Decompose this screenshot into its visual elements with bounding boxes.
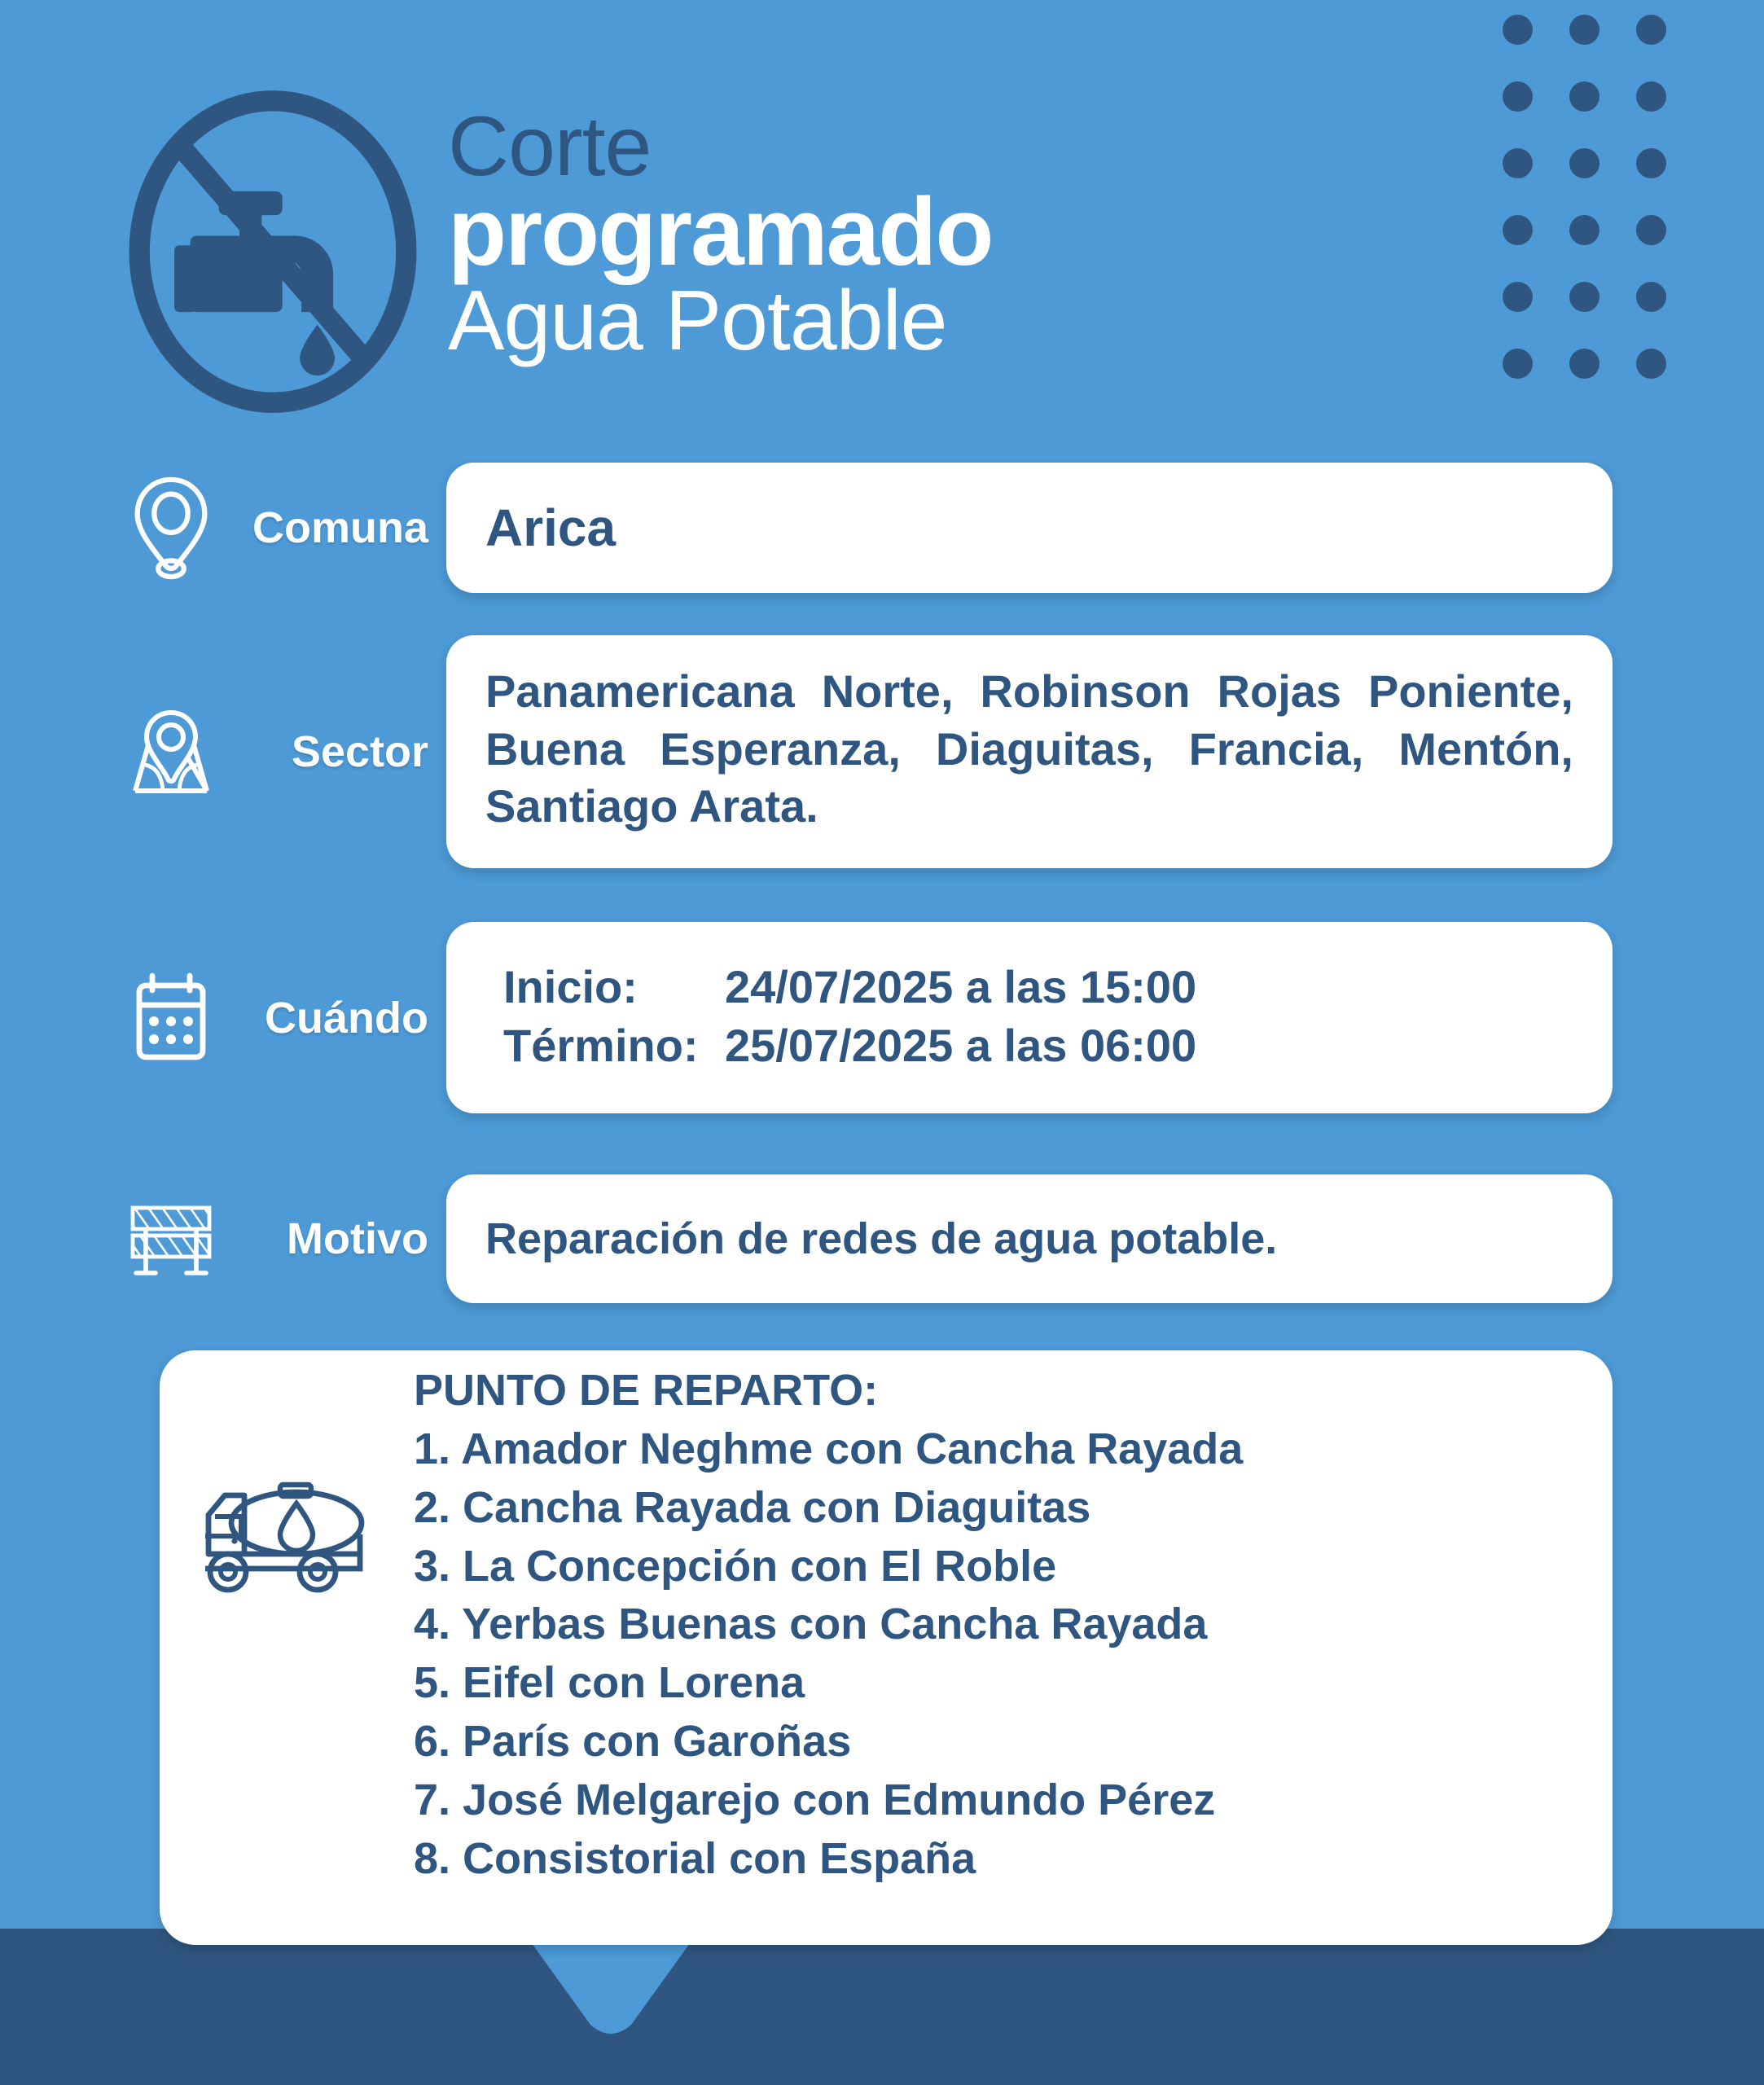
reparto-title: PUNTO DE REPARTO: — [414, 1368, 1580, 1412]
header-line-agua-potable: Agua Potable — [448, 279, 992, 363]
row-sector: Sector Panamericana Norte, Robinson Roja… — [114, 635, 1613, 868]
punto-de-reparto-panel: PUNTO DE REPARTO: 1. Amador Neghme con C… — [160, 1350, 1613, 1945]
reparto-items: 1. Amador Neghme con Cancha Rayada 2. Ca… — [414, 1420, 1580, 1889]
header-line-programado: programado — [448, 187, 992, 279]
dot — [1569, 215, 1599, 245]
header-title-block: Corte programado Agua Potable — [448, 90, 992, 363]
dot — [1503, 349, 1533, 379]
dot — [1636, 81, 1666, 112]
dot — [1636, 215, 1666, 245]
map-location-icon — [114, 695, 228, 809]
map-pin-icon — [114, 471, 228, 585]
list-item: 6. París con Garoñas — [414, 1713, 1580, 1771]
sector-value-card: Panamericana Norte, Robinson Rojas Ponie… — [446, 635, 1613, 868]
row-motivo: Motivo Reparación de redes de agua potab… — [114, 1174, 1613, 1303]
dot-grid-decoration — [1503, 15, 1703, 415]
road-barrier-icon — [114, 1182, 228, 1296]
when-value-termino: 25/07/2025 a las 06:00 — [725, 1016, 1196, 1075]
reparto-list: PUNTO DE REPARTO: 1. Amador Neghme con C… — [399, 1368, 1580, 1889]
dot — [1636, 148, 1666, 178]
dot — [1569, 282, 1599, 312]
when-line-inicio: Inicio: 24/07/2025 a las 15:00 — [503, 958, 1573, 1016]
comuna-value-card: Arica — [446, 463, 1613, 593]
dot — [1569, 81, 1599, 112]
when-key-inicio: Inicio: — [503, 958, 725, 1016]
dot — [1636, 15, 1666, 45]
row-label-sector: Sector — [228, 726, 446, 777]
list-item: 1. Amador Neghme con Cancha Rayada — [414, 1420, 1580, 1479]
list-item: 2. Cancha Rayada con Diaguitas — [414, 1479, 1580, 1538]
when-key-termino: Término: — [503, 1016, 725, 1075]
poster-header: Corte programado Agua Potable — [114, 90, 992, 415]
when-line-termino: Término: 25/07/2025 a las 06:00 — [503, 1016, 1573, 1075]
dot — [1569, 15, 1599, 45]
water-tanker-truck-icon — [179, 1368, 399, 1604]
row-cuando: Cuándo Inicio: 24/07/2025 a las 15:00 Té… — [114, 922, 1613, 1113]
list-item: 5. Eifel con Lorena — [414, 1654, 1580, 1713]
motivo-value-card: Reparación de redes de agua potable. — [446, 1174, 1613, 1303]
list-item: 3. La Concepción con El Roble — [414, 1538, 1580, 1596]
dot — [1636, 349, 1666, 379]
list-item: 8. Consistorial con España — [414, 1830, 1580, 1889]
dot — [1503, 148, 1533, 178]
when-value-inicio: 24/07/2025 a las 15:00 — [725, 958, 1196, 1016]
dot — [1569, 349, 1599, 379]
no-water-faucet-icon — [114, 90, 432, 415]
list-item: 4. Yerbas Buenas con Cancha Rayada — [414, 1596, 1580, 1654]
dot — [1503, 81, 1533, 112]
row-label-cuando: Cuándo — [228, 993, 446, 1043]
dot — [1503, 215, 1533, 245]
poster-root: Corte programado Agua Potable Comuna Ari… — [0, 0, 1764, 2085]
dot — [1636, 282, 1666, 312]
header-line-corte: Corte — [448, 108, 992, 187]
row-comuna: Comuna Arica — [114, 463, 1613, 593]
dot — [1503, 15, 1533, 45]
calendar-icon — [114, 961, 228, 1075]
dot — [1569, 148, 1599, 178]
list-item: 7. José Melgarejo con Edmundo Pérez — [414, 1771, 1580, 1830]
cuando-value-card: Inicio: 24/07/2025 a las 15:00 Término: … — [446, 922, 1613, 1113]
dot — [1503, 282, 1533, 312]
row-label-motivo: Motivo — [228, 1214, 446, 1264]
row-label-comuna: Comuna — [228, 503, 446, 553]
